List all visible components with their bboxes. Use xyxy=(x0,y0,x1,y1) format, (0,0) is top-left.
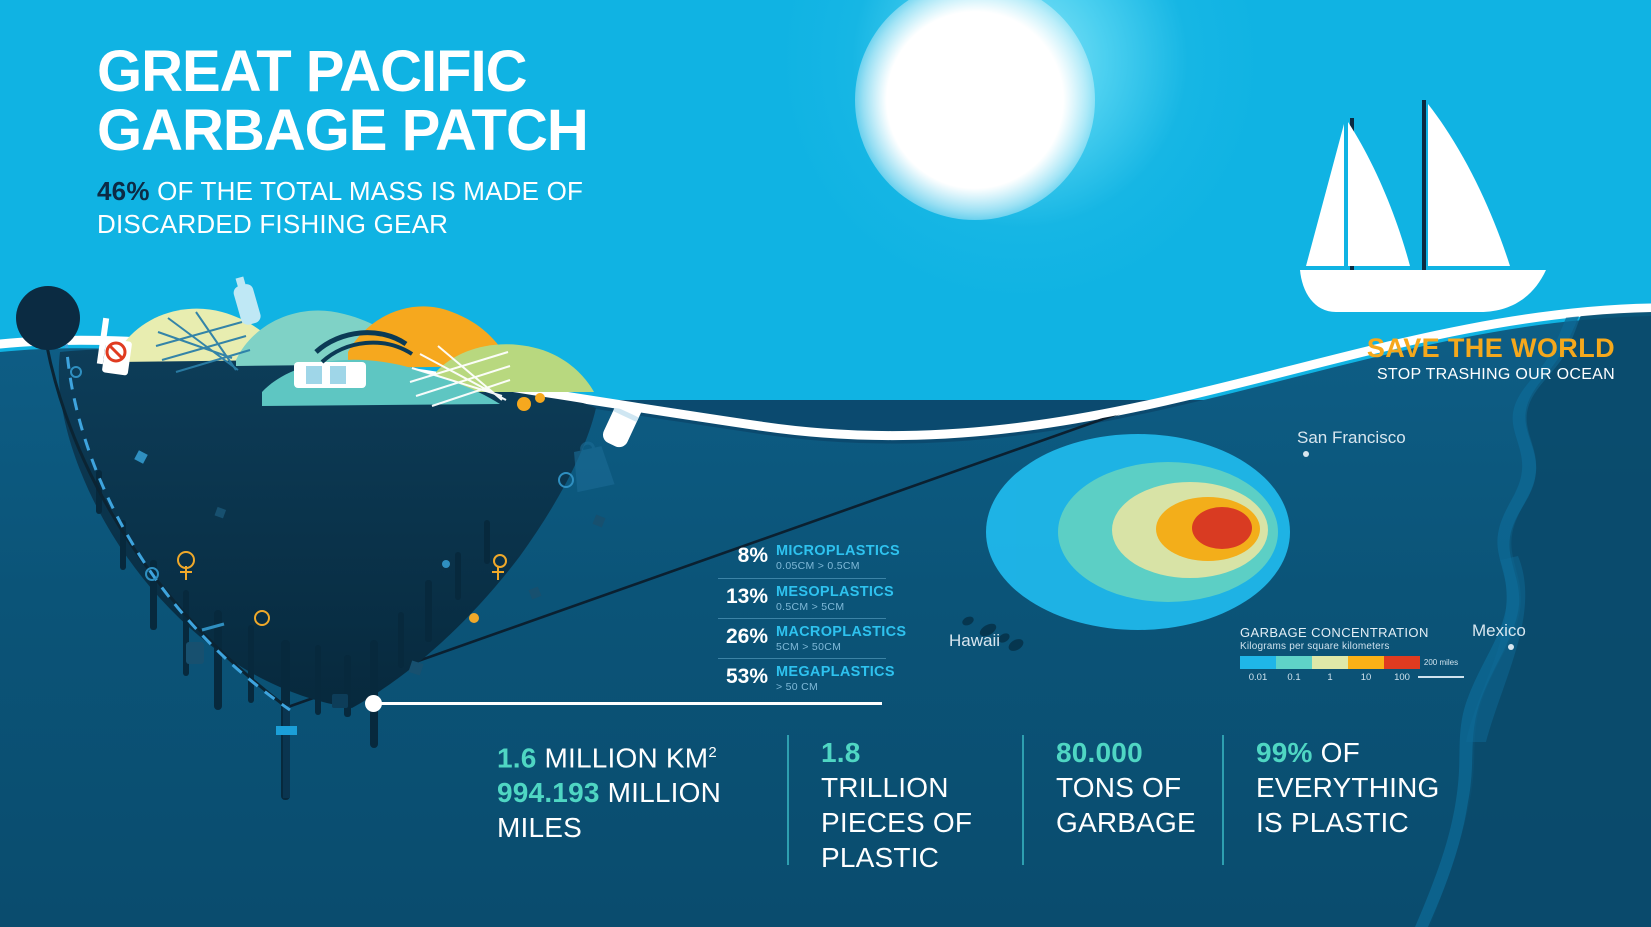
call-to-action: SAVE THE WORLD STOP TRASHING OUR OCEAN xyxy=(1367,333,1615,384)
legend-subtitle: Kilograms per square kilometers xyxy=(1240,641,1440,652)
stat-tons: 80.000 TONS OF GARBAGE xyxy=(1022,735,1222,865)
legend-tick-labels: 0.01 0.1 1 10 100 xyxy=(1240,672,1420,683)
size-row: 26% MACROPLASTICS 5CM > 50CM xyxy=(718,618,886,658)
legend-tick-3: 10 xyxy=(1348,672,1384,683)
page-subtitle: 46% OF THE TOTAL MASS IS MADE OF DISCARD… xyxy=(97,175,797,241)
page-title: GREAT PACIFIC GARBAGE PATCH xyxy=(97,42,797,160)
legend-tick-4: 100 xyxy=(1384,672,1420,683)
stat-line: MILES xyxy=(497,810,759,845)
stat-superscript: 2 xyxy=(708,744,717,761)
map-label-hawaii: Hawaii xyxy=(949,631,1000,651)
stat-line: GARBAGE xyxy=(1056,805,1194,840)
stat-value: 99% xyxy=(1256,737,1313,768)
trash-crate-icon xyxy=(294,362,366,388)
stat-line: IS PLASTIC xyxy=(1256,805,1534,840)
legend-tick-1: 0.1 xyxy=(1276,672,1312,683)
divider-endpoint-dot xyxy=(365,695,382,712)
legend-tick-0: 0.01 xyxy=(1240,672,1276,683)
scale-bar-line xyxy=(1418,676,1464,678)
subtitle-line-2: DISCARDED FISHING GEAR xyxy=(97,208,797,241)
stat-line: 994.193 MILLION xyxy=(497,775,759,810)
trash-dot-orange-2 xyxy=(535,393,545,403)
title-line-2: GARBAGE PATCH xyxy=(97,101,797,160)
stat-value: 80.000 xyxy=(1056,737,1143,768)
map-label-mexico: Mexico xyxy=(1472,621,1526,641)
size-range: 0.05CM > 0.5CM xyxy=(776,560,900,572)
sailboat-icon xyxy=(1300,100,1546,312)
size-name: MICROPLASTICS xyxy=(776,543,900,559)
stat-area: 1.6 MILLION KM2 994.193 MILLION MILES xyxy=(497,735,787,865)
size-name: MEGAPLASTICS xyxy=(776,664,895,680)
stat-unit-2: MILLION xyxy=(600,777,721,808)
infographic-canvas: GREAT PACIFIC GARBAGE PATCH 46% OF THE T… xyxy=(0,0,1651,927)
subtitle-percent: 46% xyxy=(97,176,150,206)
buoy-pole xyxy=(283,706,290,798)
size-percent: 26% xyxy=(718,625,768,649)
stat-value: 1.6 xyxy=(497,742,537,773)
stat-line: 80.000 xyxy=(1056,735,1194,770)
map-scale-bar: 200 miles xyxy=(1418,658,1464,678)
sail-jib xyxy=(1348,122,1410,266)
black-buoy-icon xyxy=(16,286,80,350)
stat-plastic-share: 99% OF EVERYTHING IS PLASTIC xyxy=(1222,735,1562,865)
divider-rule xyxy=(370,702,882,705)
legend-swatch-2 xyxy=(1312,656,1348,669)
stat-value-2: 994.193 xyxy=(497,777,600,808)
size-name: MACROPLASTICS xyxy=(776,624,906,640)
garbage-concentration-map xyxy=(986,434,1290,630)
buoy-band xyxy=(276,726,297,735)
size-row: 8% MICROPLASTICS 0.05CM > 0.5CM xyxy=(718,538,886,578)
legend-swatch-4 xyxy=(1384,656,1420,669)
cta-subline: STOP TRASHING OUR OCEAN xyxy=(1367,366,1615,384)
sail-fore xyxy=(1306,124,1344,266)
stat-unit: MILLION KM xyxy=(537,742,709,773)
boat-hull xyxy=(1300,270,1546,312)
size-row: 53% MEGAPLASTICS > 50 CM xyxy=(718,658,886,698)
size-range: 0.5CM > 5CM xyxy=(776,601,894,613)
trash-dot-orange xyxy=(517,397,531,411)
stat-unit: TRILLION xyxy=(821,772,949,803)
legend-tick-2: 1 xyxy=(1312,672,1348,683)
stat-pieces: 1.8 TRILLION PIECES OF PLASTIC xyxy=(787,735,1022,865)
stat-value: 1.8 xyxy=(821,737,861,768)
size-percent: 13% xyxy=(718,585,768,609)
size-row: 13% MESOPLASTICS 0.5CM > 5CM xyxy=(718,578,886,618)
stat-line: 99% OF EVERYTHING xyxy=(1256,735,1534,805)
legend-title: GARBAGE CONCENTRATION xyxy=(1240,625,1440,640)
stat-line: 1.8 TRILLION xyxy=(821,735,994,805)
map-dot-mexico xyxy=(1508,644,1514,650)
stat-line: 1.6 MILLION KM2 xyxy=(497,735,759,775)
size-range: > 50 CM xyxy=(776,681,895,693)
legend-swatch-3 xyxy=(1348,656,1384,669)
legend-swatch-0 xyxy=(1240,656,1276,669)
map-dot-san-francisco xyxy=(1303,451,1309,457)
plastic-size-breakdown: 8% MICROPLASTICS 0.05CM > 0.5CM 13% MESO… xyxy=(718,538,886,698)
size-percent: 8% xyxy=(718,544,768,568)
map-label-san-francisco: San Francisco xyxy=(1297,428,1406,448)
cta-headline: SAVE THE WORLD xyxy=(1367,333,1615,364)
stat-line: TONS OF xyxy=(1056,770,1194,805)
subtitle-text: OF THE TOTAL MASS IS MADE OF xyxy=(150,176,583,206)
size-percent: 53% xyxy=(718,665,768,689)
size-name: MESOPLASTICS xyxy=(776,584,894,600)
key-stats-row: 1.6 MILLION KM2 994.193 MILLION MILES 1.… xyxy=(497,735,1607,865)
legend-color-bar xyxy=(1240,656,1420,669)
legend-swatch-1 xyxy=(1276,656,1312,669)
sail-main xyxy=(1428,104,1510,266)
stat-line: PLASTIC xyxy=(821,840,994,875)
stat-line: PIECES OF xyxy=(821,805,994,840)
header-block: GREAT PACIFIC GARBAGE PATCH 46% OF THE T… xyxy=(97,42,797,241)
size-range: 5CM > 50CM xyxy=(776,641,906,653)
scale-bar-label: 200 miles xyxy=(1418,658,1464,667)
garbage-concentration-legend: GARBAGE CONCENTRATION Kilograms per squa… xyxy=(1240,625,1440,683)
title-line-1: GREAT PACIFIC xyxy=(97,42,797,101)
